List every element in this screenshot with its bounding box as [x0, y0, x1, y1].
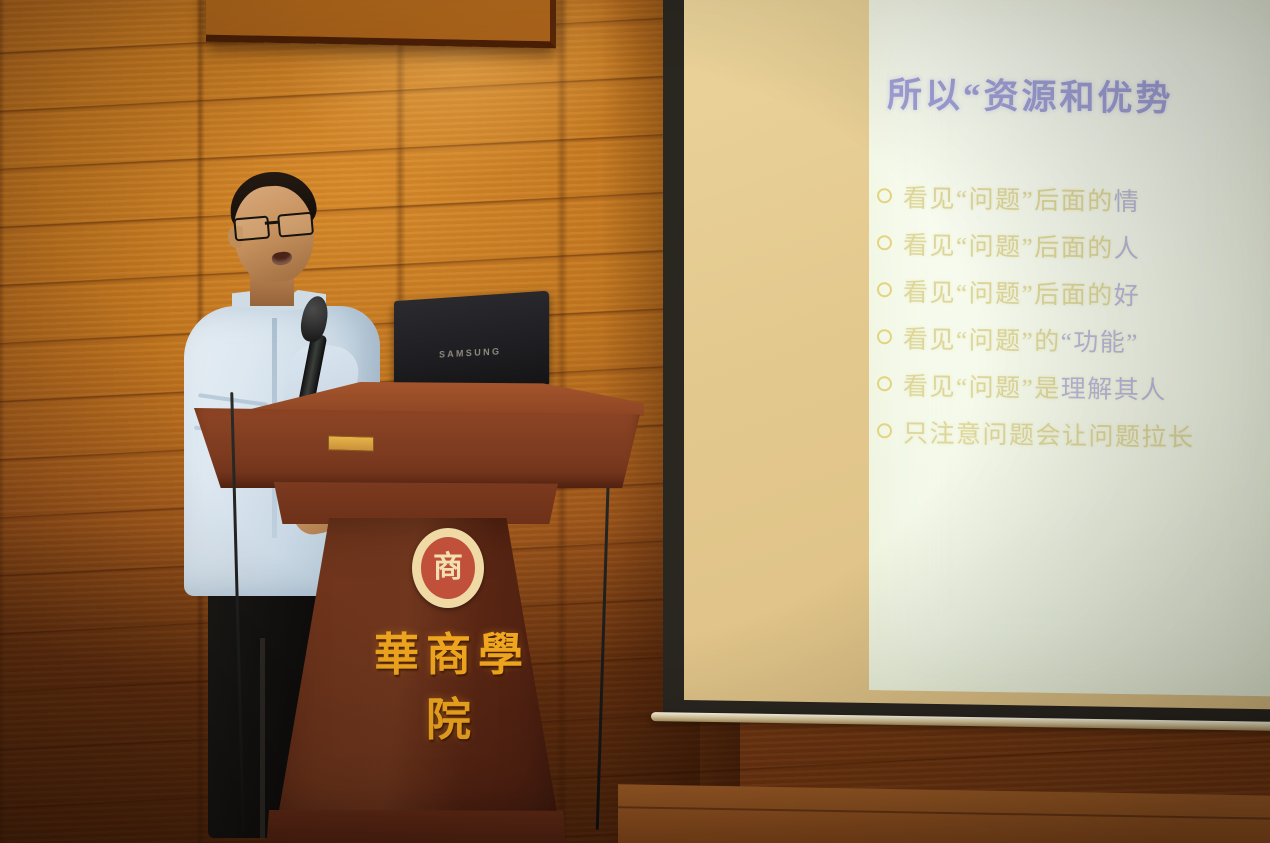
laptop: SAMSUNG [394, 291, 549, 392]
list-item: 看见“问题”是理解其人 [877, 360, 1270, 414]
lens-right [277, 212, 314, 238]
list-item: 看见“问题”后面的情 [877, 172, 1270, 226]
laptop-brand-label: SAMSUNG [394, 344, 549, 362]
podium-neck [268, 482, 558, 524]
wall-panel-frame [206, 0, 556, 48]
projection-screen: 所以“资源和优势 看见“问题”后面的情 看见“问题”后面的人 看见“问题”后面的… [663, 0, 1270, 824]
slide-title: 所以“资源和优势 [887, 66, 1174, 122]
bullet-circle-icon [877, 235, 892, 250]
bullet-text: 看见“问题”的“功能” [903, 319, 1139, 359]
podium-front-face [194, 408, 640, 488]
lecture-photo: 所以“资源和优势 看见“问题”后面的情 看见“问题”后面的人 看见“问题”后面的… [0, 0, 1270, 843]
bullet-text: 看见“问题”后面的好 [903, 272, 1140, 312]
bullet-circle-icon [877, 282, 892, 297]
institution-emblem: 商 [412, 528, 484, 608]
lens-left [233, 215, 270, 241]
bullet-circle-icon [877, 188, 892, 203]
institution-name: 華商學院 [352, 618, 552, 748]
presentation-slide: 所以“资源和优势 看见“问题”后面的情 看见“问题”后面的人 看见“问题”后面的… [869, 0, 1270, 701]
podium-base [266, 810, 566, 843]
list-item: 看见“问题”后面的好 [877, 266, 1270, 320]
lectern-podium: 商 華商學院 [186, 378, 656, 843]
podium-nameplate [328, 435, 374, 451]
bullet-circle-icon [877, 329, 892, 344]
list-item: 看见“问题”后面的人 [877, 219, 1270, 273]
bullet-text: 只注意问题会让问题拉长 [903, 413, 1195, 454]
bullet-text: 看见“问题”后面的情 [903, 178, 1140, 218]
bullet-text: 看见“问题”是理解其人 [903, 366, 1167, 406]
bullet-text: 看见“问题”后面的人 [903, 225, 1140, 265]
slide-bullet-list: 看见“问题”后面的情 看见“问题”后面的人 看见“问题”后面的好 看见“问题”的… [877, 172, 1270, 461]
emblem-glyph: 商 [421, 537, 475, 599]
list-item: 看见“问题”的“功能” [877, 313, 1270, 367]
bullet-circle-icon [877, 423, 892, 438]
bullet-circle-icon [877, 376, 892, 391]
list-item: 只注意问题会让问题拉长 [877, 407, 1270, 461]
